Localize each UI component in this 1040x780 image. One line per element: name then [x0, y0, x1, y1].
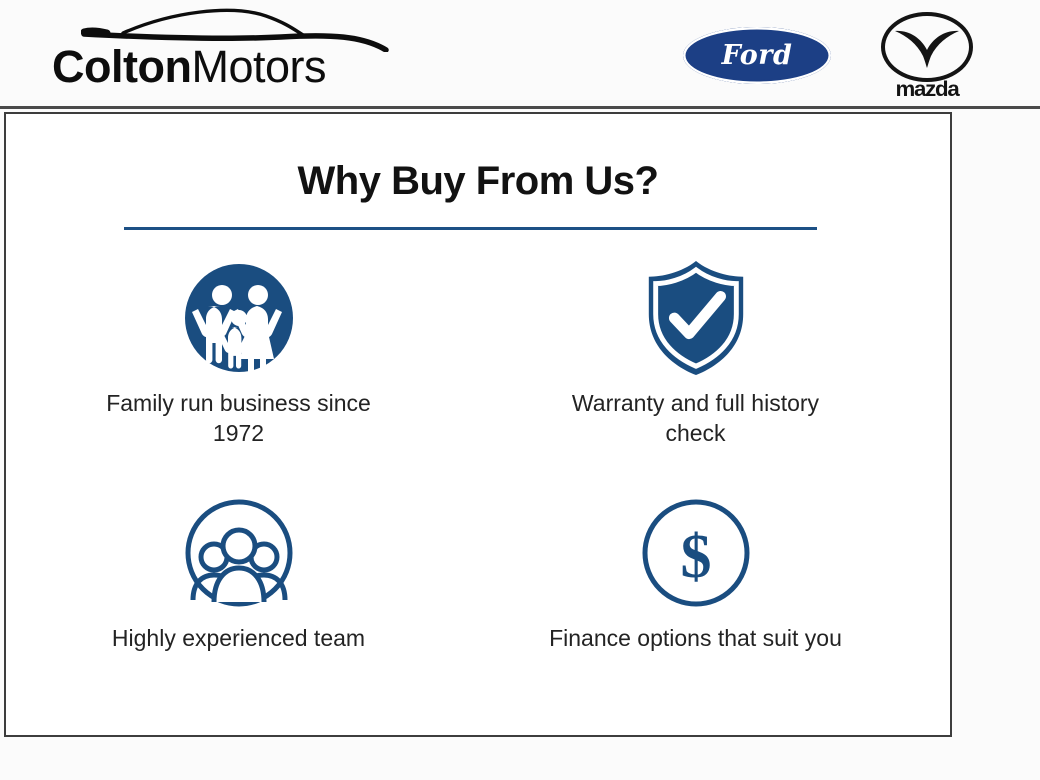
feature-label-family: Family run business since 1972 [84, 388, 394, 449]
mazda-wordmark: mazda [866, 78, 989, 102]
team-group-icon [183, 497, 295, 609]
page-title: Why Buy From Us? [6, 159, 950, 204]
brand-name-bold: Colton [52, 41, 191, 92]
dollar-icon-wrap: $ [637, 497, 755, 609]
feature-label-warranty: Warranty and full history check [541, 388, 851, 449]
mazda-logo[interactable]: mazda [869, 12, 985, 102]
header-divider [0, 106, 1040, 109]
brand-logo[interactable]: ColtonMotors [26, 2, 386, 106]
ford-logo[interactable]: Ford [683, 27, 831, 84]
svg-text:$: $ [680, 523, 711, 591]
feature-item-family: Family run business since 1972 [12, 254, 465, 479]
shield-check-icon [641, 259, 751, 377]
title-divider [124, 227, 817, 230]
team-icon-wrap [180, 497, 298, 609]
brand-name-light: Motors [191, 41, 326, 92]
family-icon-wrap [180, 262, 298, 374]
shield-icon-wrap [637, 262, 755, 374]
feature-item-finance: $ Finance options that suit you [469, 489, 922, 714]
brand-wordmark: ColtonMotors [52, 44, 326, 89]
feature-label-team: Highly experienced team [84, 623, 394, 653]
content-card: Why Buy From Us? [4, 112, 952, 737]
feature-label-finance: Finance options that suit you [541, 623, 851, 653]
page-header: ColtonMotors Ford mazda [0, 0, 1040, 108]
mazda-wing-icon [891, 26, 963, 70]
dollar-circle-icon: $ [640, 497, 752, 609]
feature-grid: Family run business since 1972 Warranty … [26, 254, 932, 714]
family-icon [184, 263, 294, 373]
feature-item-team: Highly experienced team [12, 489, 465, 714]
ford-wordmark: Ford [683, 39, 831, 70]
feature-item-warranty: Warranty and full history check [469, 254, 922, 479]
